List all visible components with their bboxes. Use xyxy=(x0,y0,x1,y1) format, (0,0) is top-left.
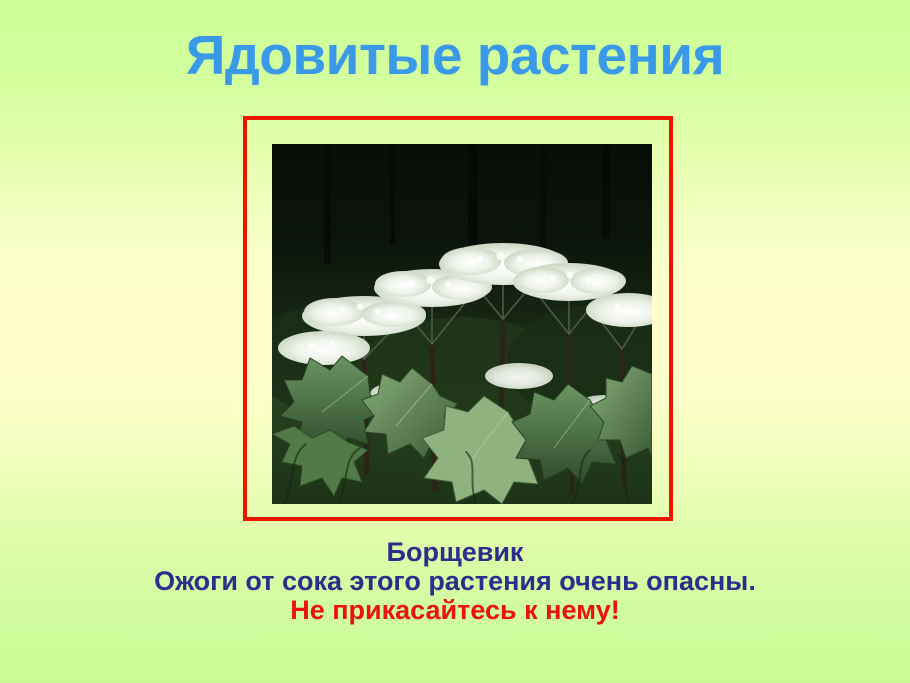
caption-block: Борщевик Ожоги от сока этого растения оч… xyxy=(0,538,910,625)
warning-text: Ожоги от сока этого растения очень опасн… xyxy=(0,567,910,596)
slide-canvas: Ядовитые растения xyxy=(0,0,910,683)
hogweed-illustration xyxy=(272,144,652,504)
plant-name: Борщевик xyxy=(0,538,910,567)
alert-text: Не прикасайтесь к нему! xyxy=(0,596,910,625)
hogweed-photo xyxy=(272,144,652,504)
page-title: Ядовитые растения xyxy=(0,22,910,88)
photo-frame xyxy=(243,116,673,521)
